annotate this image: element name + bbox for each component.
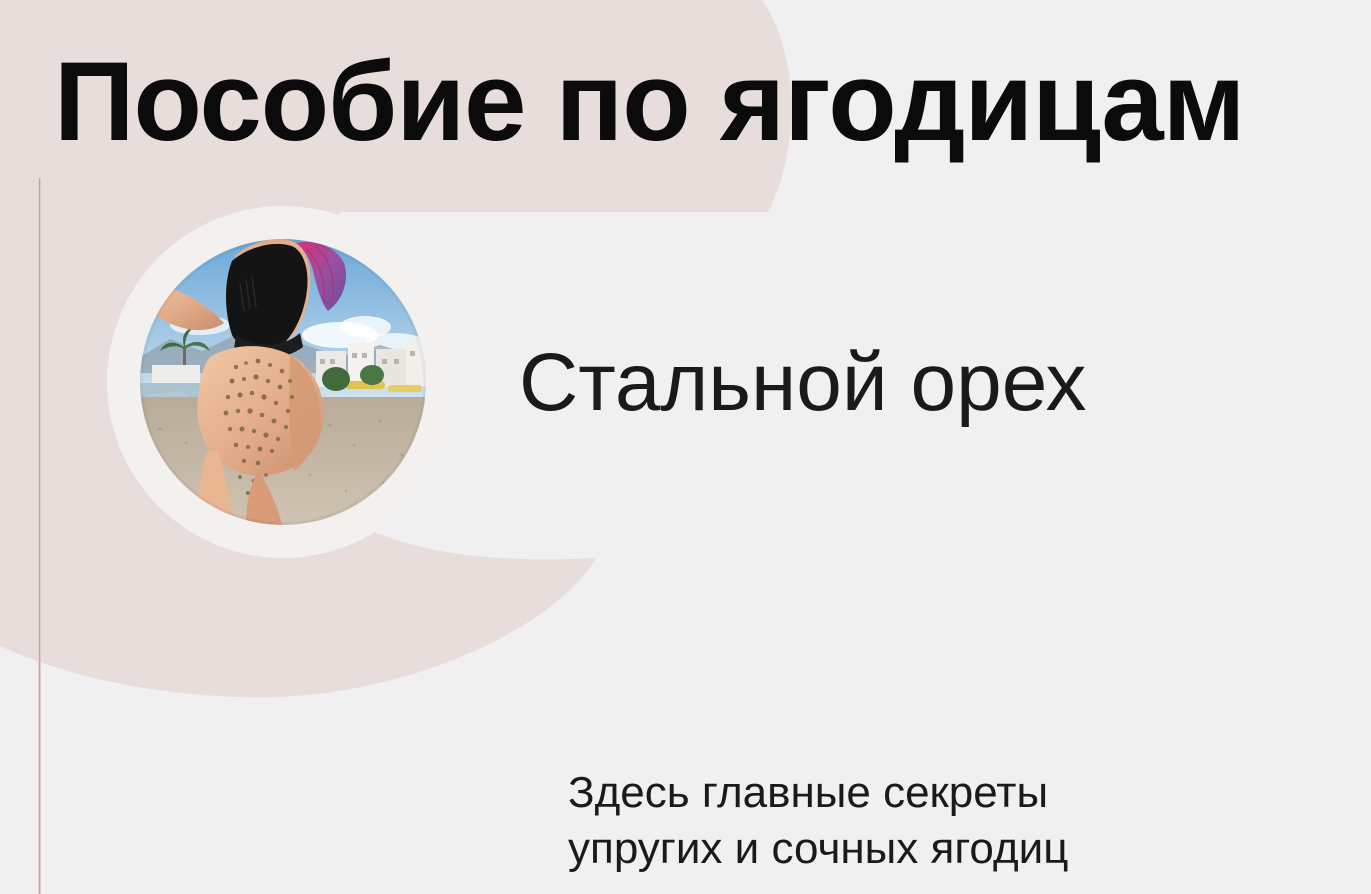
slide-canvas: Пособие по ягодицам Стальной орех Здесь …: [0, 0, 1371, 894]
subtitle: Стальной орех: [519, 338, 1087, 428]
vertical-rule: [38, 178, 41, 894]
caption-line-1: Здесь главные секреты: [568, 765, 1208, 821]
caption: Здесь главные секреты упругих и сочных я…: [568, 765, 1208, 877]
caption-line-2: упругих и сочных ягодиц: [568, 821, 1208, 877]
page-title: Пособие по ягодицам: [54, 46, 1354, 158]
avatar: [140, 239, 426, 525]
